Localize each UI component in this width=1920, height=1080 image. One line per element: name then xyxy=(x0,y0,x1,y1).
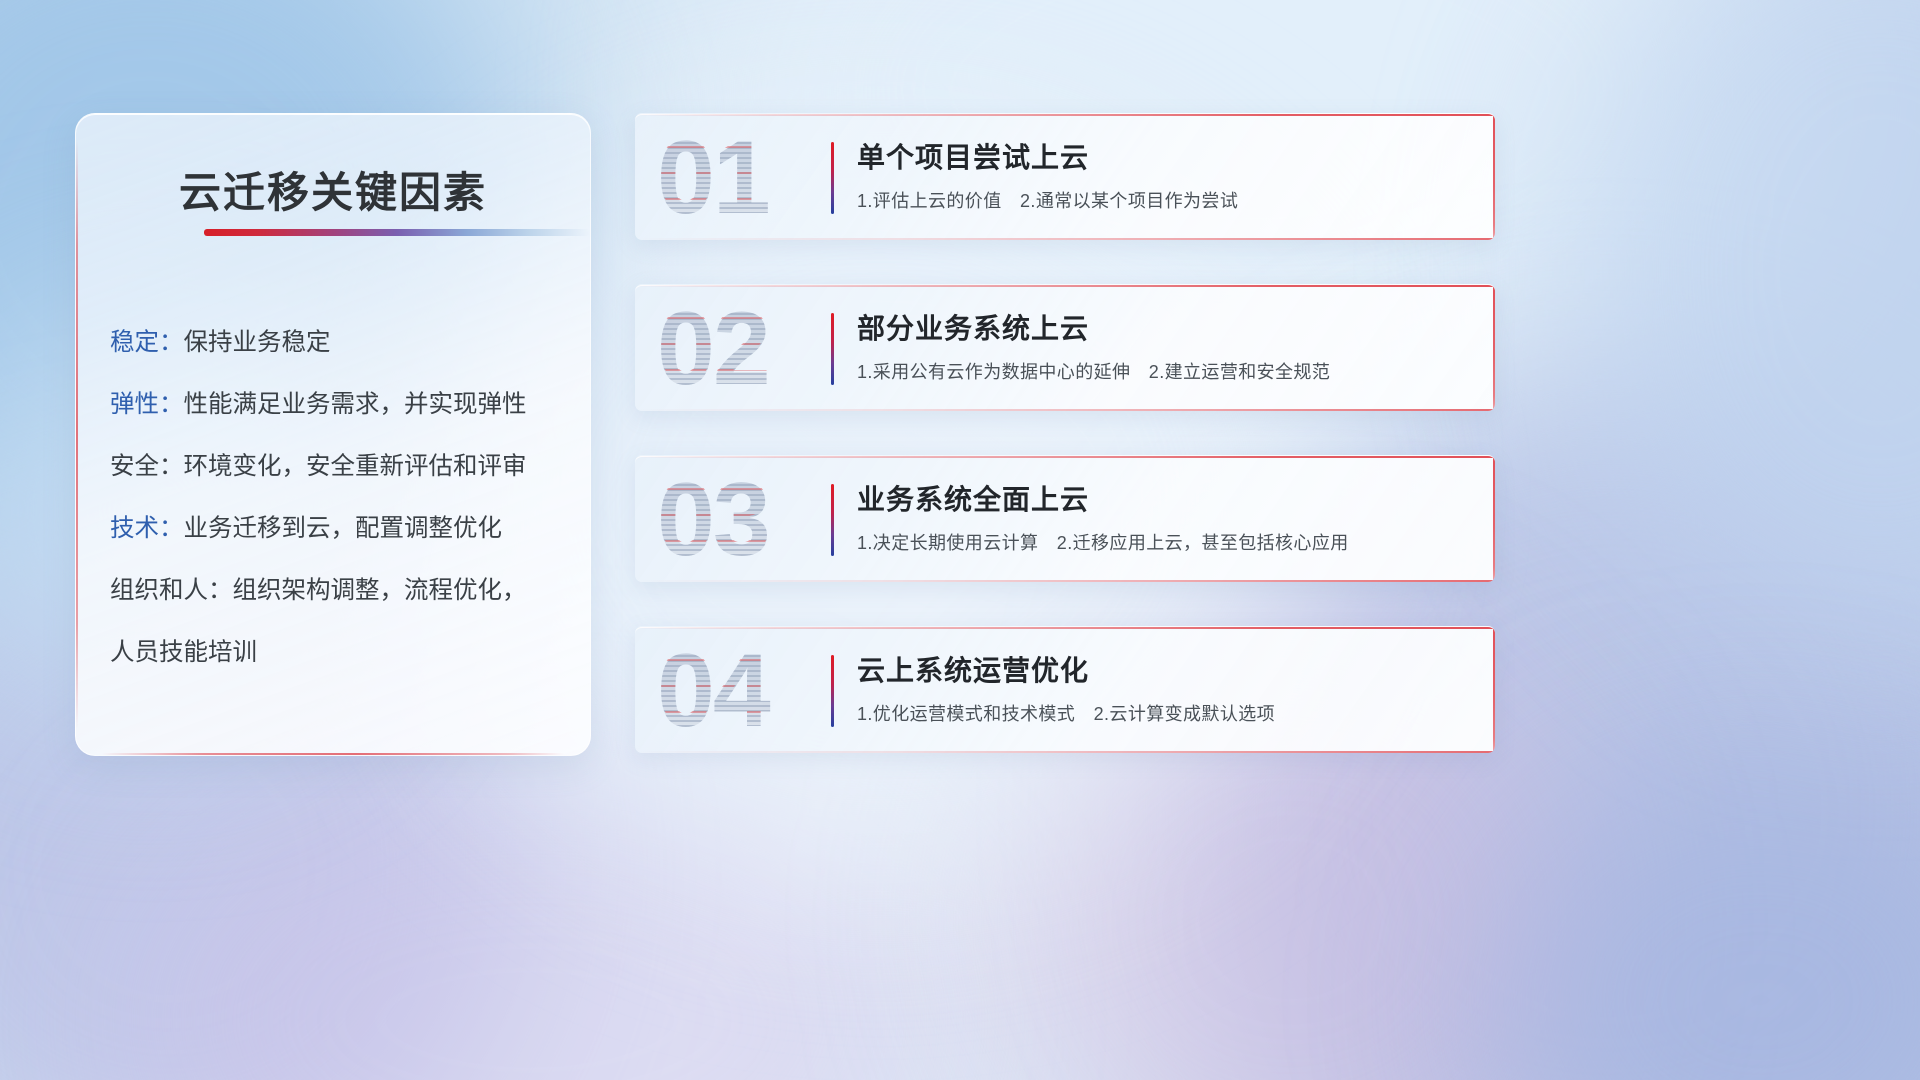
stage-number-watermark-tint: 03 xyxy=(657,462,827,578)
key-factor-label: 稳定： xyxy=(110,329,184,356)
stage-number-watermark-tint: 02 xyxy=(657,291,827,407)
slide-stage: 云迁移关键因素 稳定：保持业务稳定弹性：性能满足业务需求，并实现弹性安全：环境变… xyxy=(0,0,1920,1080)
key-factor-label: 安全： xyxy=(110,453,184,480)
card-top-accent xyxy=(635,627,1495,629)
card-right-accent xyxy=(1493,285,1495,411)
stage-number-watermark-red: 02 xyxy=(657,291,827,407)
card-title: 部分业务系统上云 xyxy=(857,307,1089,347)
key-factor-text: 人员技能培训 xyxy=(110,639,257,666)
card-bottom-accent xyxy=(635,751,1495,753)
card-divider-bar xyxy=(831,655,834,727)
key-factor-label: 技术： xyxy=(110,515,184,542)
card-bottom-accent xyxy=(635,409,1495,411)
card-title: 云上系统运营优化 xyxy=(857,649,1089,689)
card-top-accent xyxy=(635,456,1495,458)
card-description: 1.优化运营模式和技术模式 2.云计算变成默认选项 xyxy=(857,700,1275,726)
stage-card[interactable]: 0101单个项目尝试上云1.评估上云的价值 2.通常以某个项目作为尝试 xyxy=(635,113,1495,240)
stage-number-watermark-red: 04 xyxy=(657,633,827,749)
key-factor-item: 弹性：性能满足业务需求，并实现弹性 xyxy=(110,374,570,436)
key-factor-item: 人员技能培训 xyxy=(110,622,570,684)
key-factor-item: 组织和人：组织架构调整，流程优化， xyxy=(110,560,570,622)
key-factor-text: 环境变化，安全重新评估和评审 xyxy=(184,453,527,480)
card-description: 1.决定长期使用云计算 2.迁移应用上云，甚至包括核心应用 xyxy=(857,529,1349,555)
key-factor-text: 业务迁移到云，配置调整优化 xyxy=(184,515,503,542)
card-divider-bar xyxy=(831,142,834,214)
card-bottom-accent xyxy=(635,238,1495,240)
card-description: 1.采用公有云作为数据中心的延伸 2.建立运营和安全规范 xyxy=(857,358,1330,384)
key-factors-list: 稳定：保持业务稳定弹性：性能满足业务需求，并实现弹性安全：环境变化，安全重新评估… xyxy=(110,312,570,684)
migration-stage-cards: 0101单个项目尝试上云1.评估上云的价值 2.通常以某个项目作为尝试0202部… xyxy=(635,113,1495,797)
card-divider-bar xyxy=(831,313,834,385)
card-right-accent xyxy=(1493,456,1495,582)
card-title: 业务系统全面上云 xyxy=(857,478,1089,518)
card-description: 1.评估上云的价值 2.通常以某个项目作为尝试 xyxy=(857,187,1238,213)
key-factor-label: 组织和人： xyxy=(110,577,233,604)
key-factors-panel: 云迁移关键因素 稳定：保持业务稳定弹性：性能满足业务需求，并实现弹性安全：环境变… xyxy=(75,113,591,756)
stage-number-watermark-red: 01 xyxy=(657,120,827,236)
stage-number-watermark-red: 03 xyxy=(657,462,827,578)
card-right-accent xyxy=(1493,114,1495,240)
key-factor-item: 技术：业务迁移到云，配置调整优化 xyxy=(110,498,570,560)
stage-number-watermark-tint: 01 xyxy=(657,120,827,236)
stage-card[interactable]: 0202部分业务系统上云1.采用公有云作为数据中心的延伸 2.建立运营和安全规范 xyxy=(635,284,1495,411)
stage-card[interactable]: 0303业务系统全面上云1.决定长期使用云计算 2.迁移应用上云，甚至包括核心应… xyxy=(635,455,1495,582)
page-title: 云迁移关键因素 xyxy=(76,159,590,220)
card-right-accent xyxy=(1493,627,1495,753)
card-divider-bar xyxy=(831,484,834,556)
stage-card[interactable]: 0404云上系统运营优化1.优化运营模式和技术模式 2.云计算变成默认选项 xyxy=(635,626,1495,753)
card-title: 单个项目尝试上云 xyxy=(857,136,1089,176)
key-factor-label: 弹性： xyxy=(110,391,184,418)
key-factor-item: 稳定：保持业务稳定 xyxy=(110,312,570,374)
key-factor-text: 保持业务稳定 xyxy=(184,329,331,356)
stage-number-watermark-tint: 04 xyxy=(657,633,827,749)
card-top-accent xyxy=(635,285,1495,287)
card-bottom-accent xyxy=(635,580,1495,582)
key-factor-text: 性能满足业务需求，并实现弹性 xyxy=(184,391,527,418)
title-underline-accent xyxy=(204,229,590,236)
key-factor-text: 组织架构调整，流程优化， xyxy=(233,577,527,604)
key-factor-item: 安全：环境变化，安全重新评估和评审 xyxy=(110,436,570,498)
card-top-accent xyxy=(635,114,1495,116)
